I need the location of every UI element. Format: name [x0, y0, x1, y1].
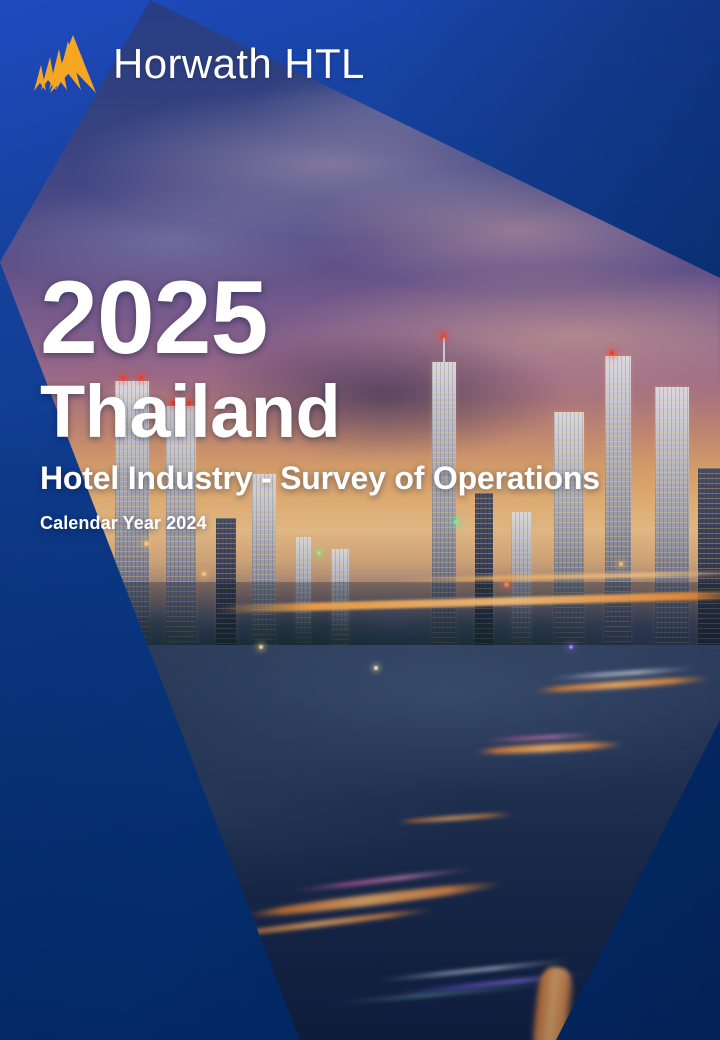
brand-logo: Horwath HTL — [29, 33, 365, 95]
cover-year: 2025 — [40, 268, 600, 370]
report-cover: Horwath HTL 2025 Thailand Hotel Industry… — [0, 0, 720, 1040]
brand-wordmark: Horwath HTL — [113, 43, 365, 85]
horwath-chevron-mark-icon — [29, 33, 97, 95]
cover-country: Thailand — [40, 374, 600, 449]
cover-subtitle: Hotel Industry - Survey of Operations — [40, 461, 600, 496]
cover-title-block: 2025 Thailand Hotel Industry - Survey of… — [40, 268, 600, 533]
cover-period: Calendar Year 2024 — [40, 514, 600, 534]
